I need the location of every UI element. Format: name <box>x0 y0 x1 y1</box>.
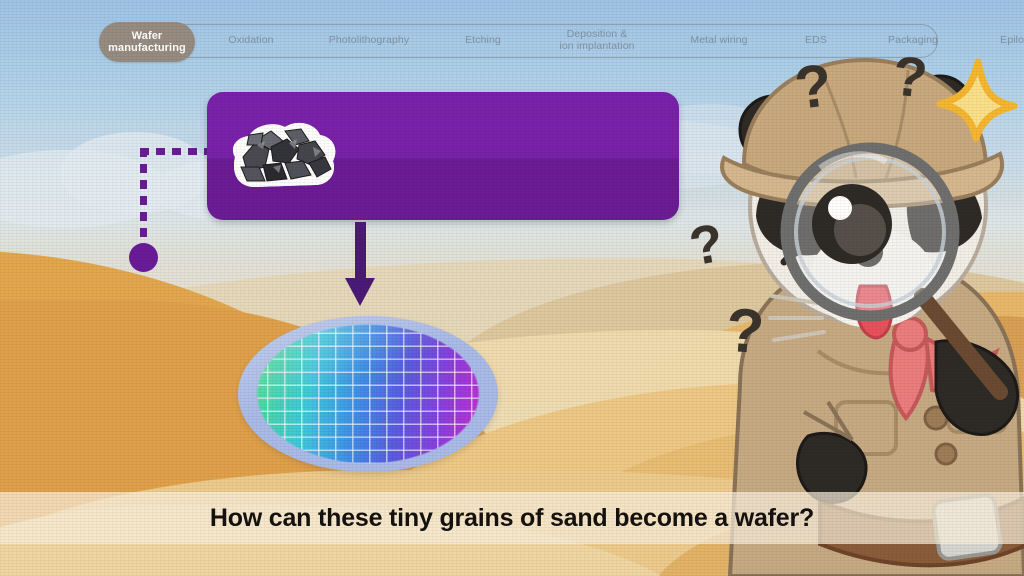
question-mark-4: ? <box>724 295 767 368</box>
nav-item-epilogue[interactable]: Epilogue <box>969 35 1024 47</box>
nav-item-wafer-manufacturing[interactable]: Wafer manufacturing <box>99 22 195 62</box>
leader-line-horizontal <box>140 148 212 155</box>
slide-stage: ? ? ? ? Wafer manufacturing Oxidation Ph… <box>0 0 1024 576</box>
leader-endpoint-dot <box>129 243 158 272</box>
callout-card[interactable] <box>207 92 679 220</box>
down-arrow-shaft <box>355 222 366 284</box>
leader-line-vertical <box>140 148 147 256</box>
nav-item-metal-wiring[interactable]: Metal wiring <box>663 35 775 47</box>
nav-item-eds[interactable]: EDS <box>775 35 857 47</box>
caption-text: How can these tiny grains of sand become… <box>0 492 1024 544</box>
nav-item-etching[interactable]: Etching <box>435 35 531 47</box>
silicon-wafer <box>238 316 498 472</box>
nav-item-deposition-ion-implantation[interactable]: Deposition & ion implantation <box>531 29 663 53</box>
nav-item-oxidation[interactable]: Oxidation <box>199 35 303 47</box>
process-step-navbar[interactable]: Wafer manufacturing Oxidation Photolitho… <box>102 24 938 58</box>
silicon-rock-icon <box>221 117 341 195</box>
down-arrow-head <box>345 278 375 306</box>
sparkle-icon <box>936 58 1018 142</box>
wafer-gloss <box>238 316 498 472</box>
nav-item-packaging[interactable]: Packaging <box>857 35 969 47</box>
nav-item-photolithography[interactable]: Photolithography <box>303 35 435 47</box>
